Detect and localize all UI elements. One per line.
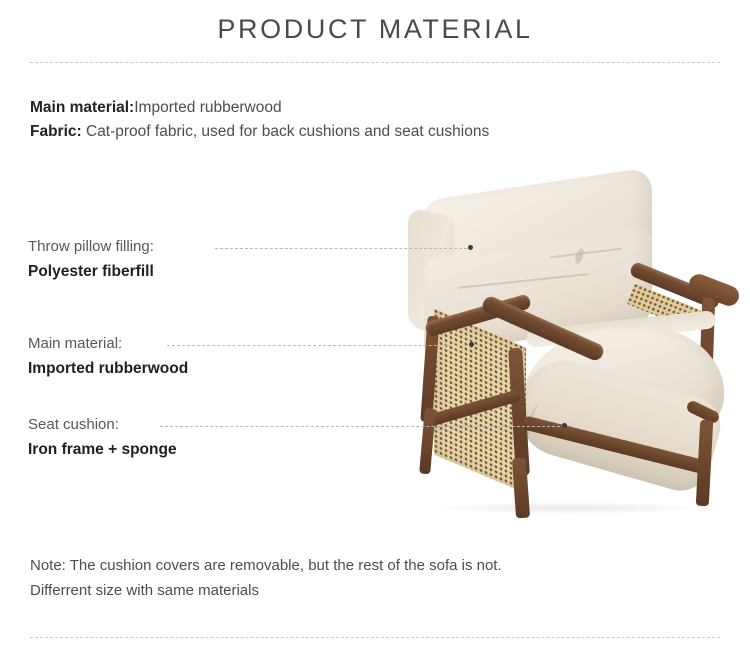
callout-2-value: Imported rubberwood <box>28 358 188 380</box>
note-block: Note: The cushion covers are removable, … <box>30 553 690 603</box>
chair-ground-shadow <box>430 502 710 514</box>
callout-throw-pillow-filling: Throw pillow filling: Polyester fiberfil… <box>28 238 154 283</box>
note-line-2: Differrent size with same materials <box>30 578 690 603</box>
callout-1-label: Throw pillow filling: <box>28 238 154 256</box>
intro-specs: Main material:Imported rubberwood Fabric… <box>30 96 670 144</box>
callout-3-value: Iron frame + sponge <box>28 439 177 461</box>
product-image-armchair <box>400 180 750 520</box>
leader-dot-2 <box>469 342 474 347</box>
callout-2-label: Main material: <box>28 335 188 353</box>
callout-seat-cushion: Seat cushion: Iron frame + sponge <box>28 416 177 461</box>
divider-top <box>30 62 720 63</box>
intro-value-fabric: Cat-proof fabric, used for back cushions… <box>82 123 490 140</box>
intro-row-fabric: Fabric: Cat-proof fabric, used for back … <box>30 120 670 144</box>
note-line-1: Note: The cushion covers are removable, … <box>30 553 690 578</box>
intro-row-main-material: Main material:Imported rubberwood <box>30 96 670 120</box>
callout-main-material: Main material: Imported rubberwood <box>28 335 188 380</box>
leader-line-3 <box>160 426 565 427</box>
page-title: PRODUCT MATERIAL <box>0 14 750 45</box>
callout-1-value: Polyester fiberfill <box>28 261 154 283</box>
callout-3-label: Seat cushion: <box>28 416 177 434</box>
leader-line-2 <box>167 345 472 346</box>
leader-dot-1 <box>468 245 473 250</box>
leader-dot-3 <box>562 423 567 428</box>
divider-bottom <box>30 637 720 638</box>
intro-label-main-material: Main material: <box>30 99 134 116</box>
leader-line-1 <box>215 248 472 249</box>
intro-label-fabric: Fabric: <box>30 123 82 140</box>
intro-value-main-material: Imported rubberwood <box>134 99 281 116</box>
product-material-section: PRODUCT MATERIAL Main material:Imported … <box>0 0 750 657</box>
